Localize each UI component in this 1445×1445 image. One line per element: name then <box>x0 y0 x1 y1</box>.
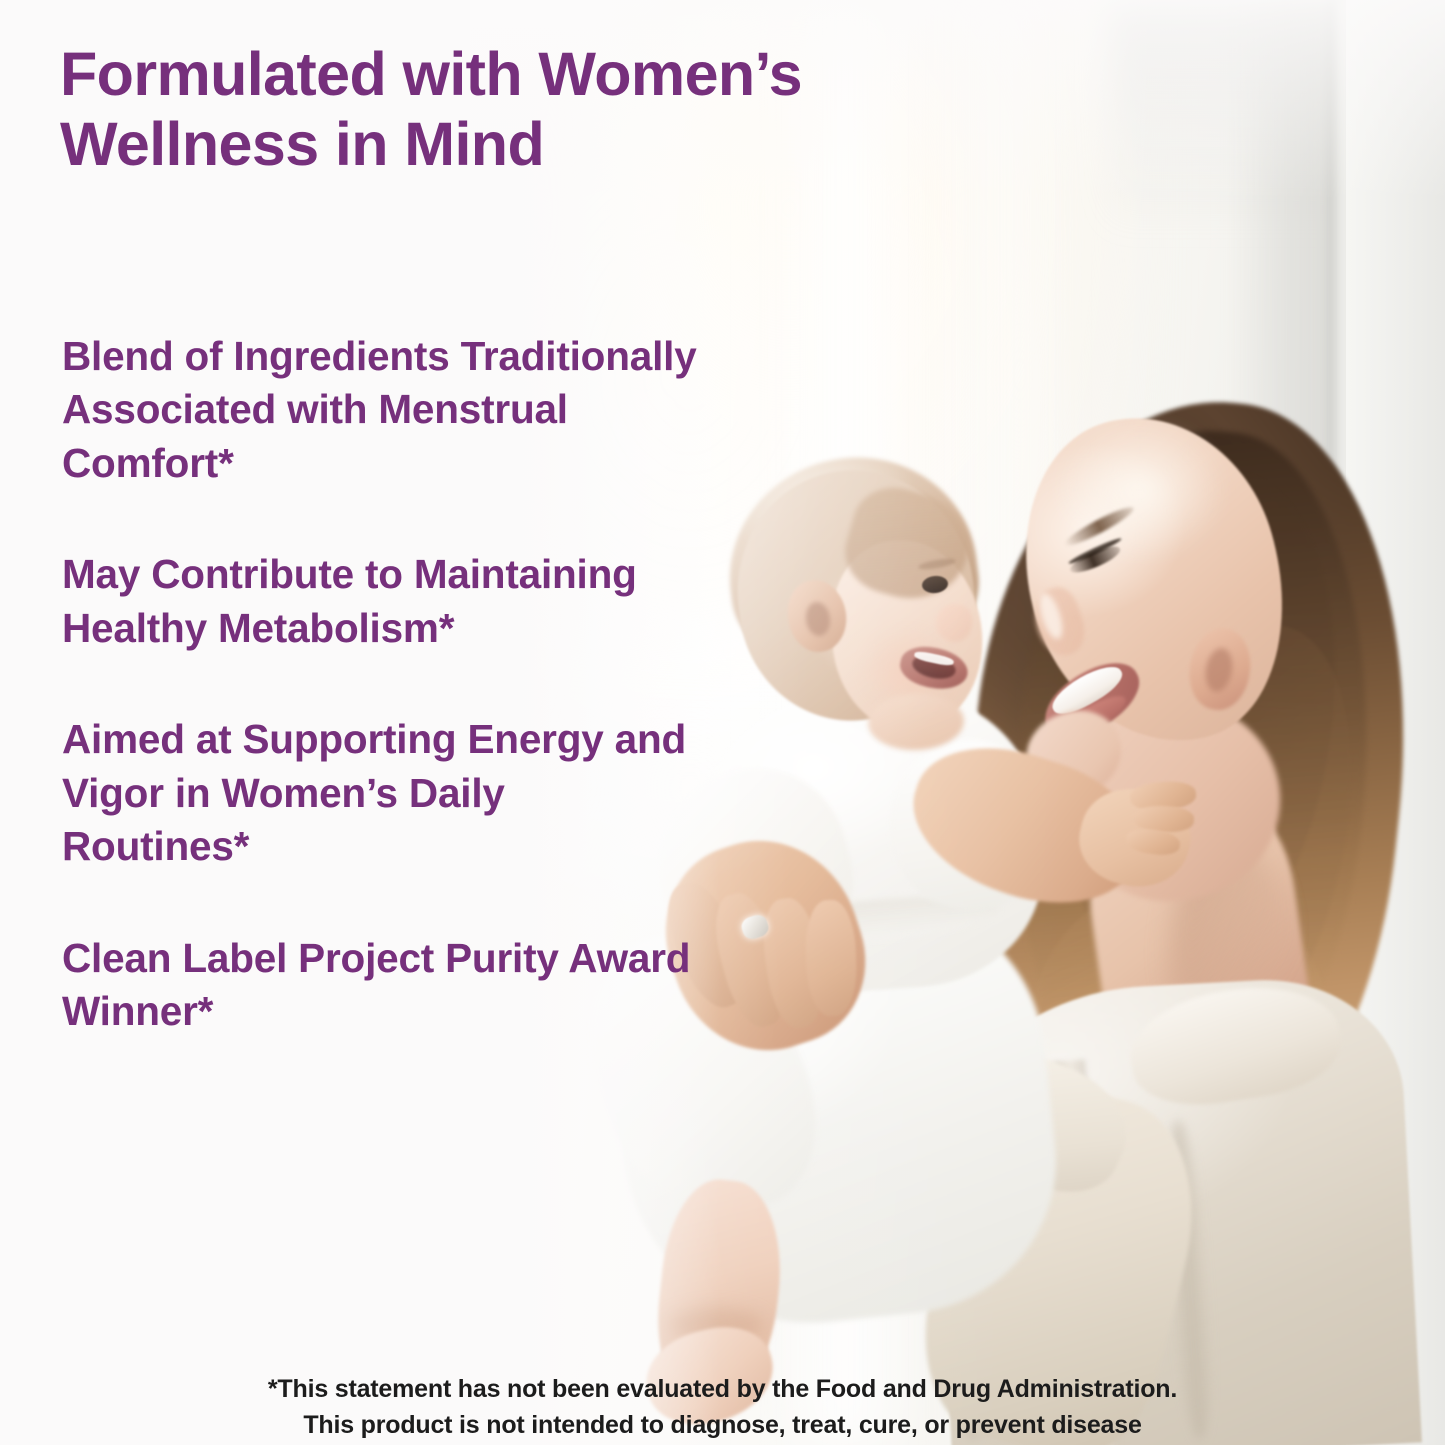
benefits-list: Blend of Ingredients Traditionally Assoc… <box>62 330 702 1039</box>
disclaimer-line-2: This product is not intended to diagnose… <box>0 1408 1445 1444</box>
page-title: Formulated with Women’s Wellness in Mind <box>60 40 1030 179</box>
text-overlay: Formulated with Women’s Wellness in Mind… <box>0 0 1445 1445</box>
benefit-item-4: Clean Label Project Purity Award Winner* <box>62 932 702 1039</box>
disclaimer-line-1: *This statement has not been evaluated b… <box>0 1372 1445 1408</box>
benefit-item-1: Blend of Ingredients Traditionally Assoc… <box>62 330 702 490</box>
fda-disclaimer: *This statement has not been evaluated b… <box>0 1372 1445 1443</box>
benefit-item-3: Aimed at Supporting Energy and Vigor in … <box>62 713 702 873</box>
benefit-item-2: May Contribute to Maintaining Healthy Me… <box>62 548 702 655</box>
promo-graphic: Formulated with Women’s Wellness in Mind… <box>0 0 1445 1445</box>
